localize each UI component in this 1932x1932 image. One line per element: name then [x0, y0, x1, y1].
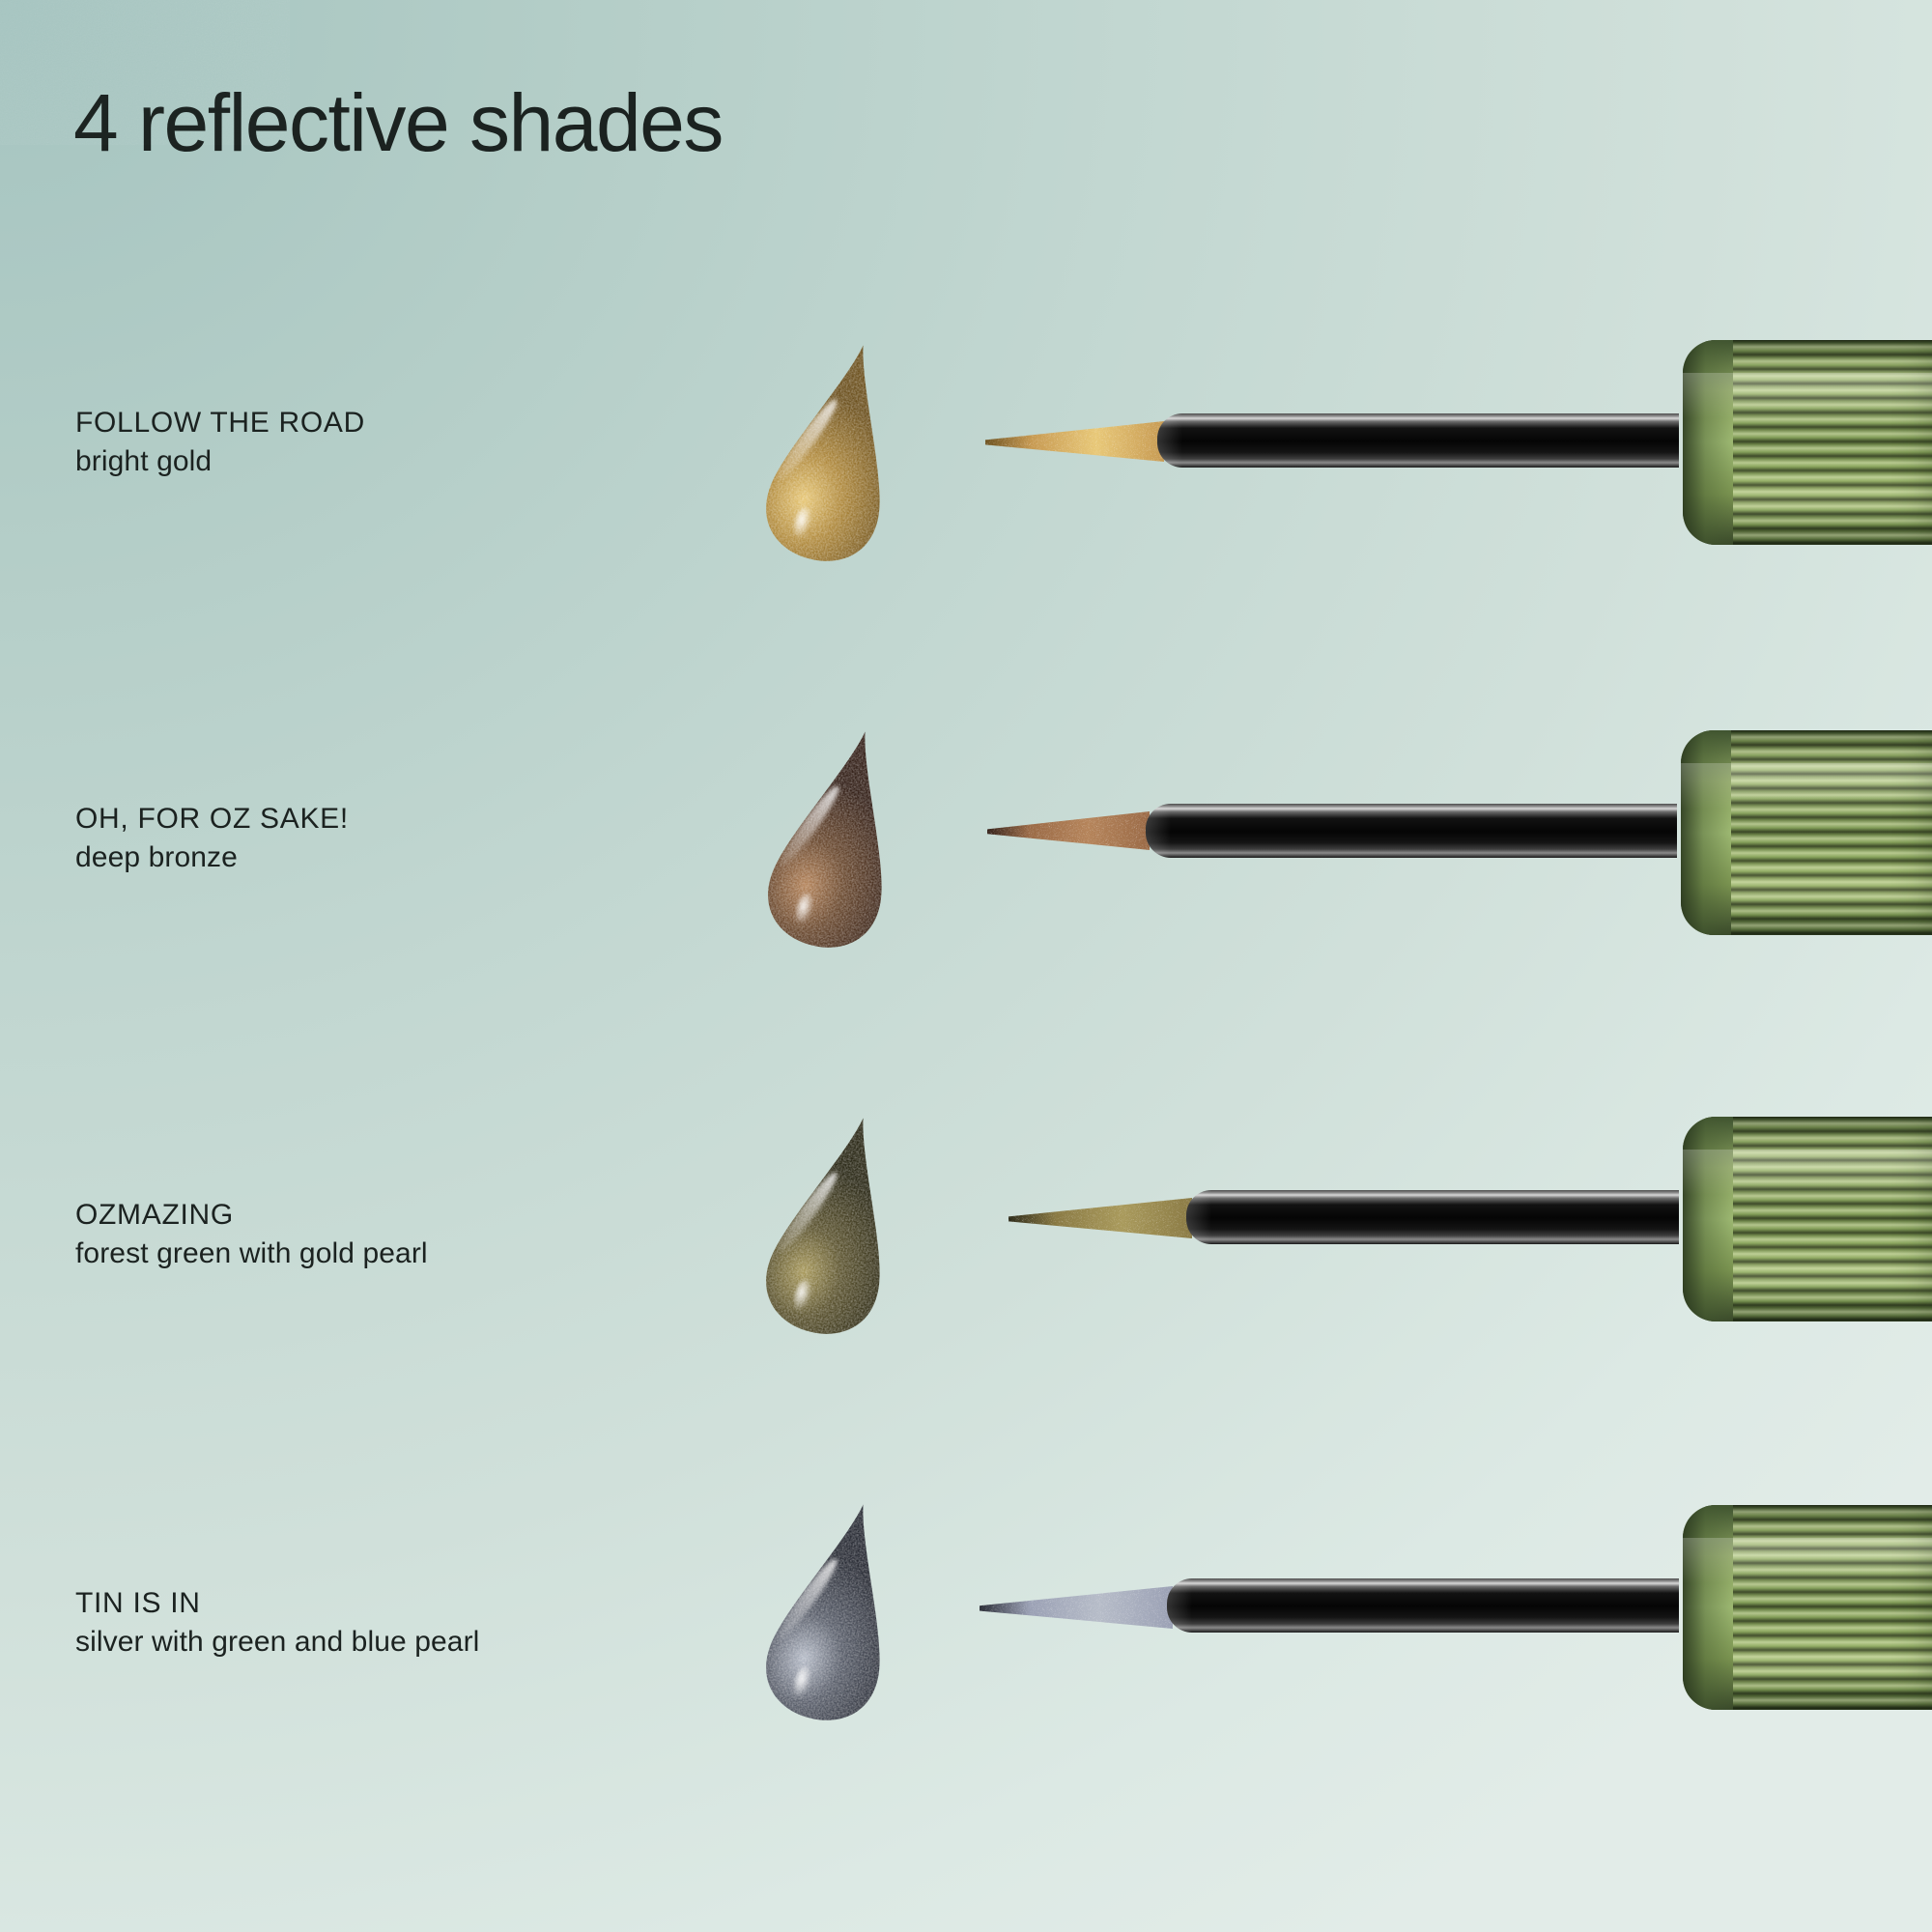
shade-label: OZMAZINGforest green with gold pearl: [75, 1196, 428, 1273]
product-shade-chart: 4 reflective shades FOLLOW THE ROADbrigh…: [0, 0, 1932, 1932]
shade-label: FOLLOW THE ROADbright gold: [75, 404, 365, 481]
product-cap: [1681, 730, 1932, 935]
shade-label: TIN IS INsilver with green and blue pear…: [75, 1584, 479, 1662]
shade-description: deep bronze: [75, 838, 349, 877]
applicator-brush-tip: [985, 421, 1164, 462]
shade-swatch: [748, 1487, 925, 1735]
shade-name: TIN IS IN: [75, 1584, 479, 1623]
shade-swatch: [748, 1100, 925, 1349]
shade-description: bright gold: [75, 442, 365, 481]
applicator-brush-tip: [980, 1586, 1173, 1629]
cap-end: [1683, 340, 1733, 545]
shade-name: OZMAZING: [75, 1196, 428, 1235]
product-cap: [1683, 1505, 1932, 1710]
shade-label: OH, FOR OZ SAKE!deep bronze: [75, 800, 349, 877]
shade-name: FOLLOW THE ROAD: [75, 404, 365, 442]
shade-name: OH, FOR OZ SAKE!: [75, 800, 349, 838]
applicator-handle: [1157, 413, 1679, 468]
shade-description: silver with green and blue pearl: [75, 1623, 479, 1662]
shade-description: forest green with gold pearl: [75, 1235, 428, 1273]
applicator-brush-tip: [987, 811, 1150, 850]
applicator-handle: [1167, 1578, 1679, 1633]
product-cap: [1683, 1117, 1932, 1321]
page-title: 4 reflective shades: [73, 76, 723, 170]
applicator-handle: [1186, 1190, 1679, 1244]
applicator-brush-tip: [1009, 1198, 1192, 1238]
product-cap: [1683, 340, 1932, 545]
cap-end: [1683, 1505, 1733, 1710]
shade-swatch: [748, 327, 925, 576]
applicator-handle: [1146, 804, 1677, 858]
cap-end: [1681, 730, 1731, 935]
shade-swatch: [750, 714, 927, 962]
cap-end: [1683, 1117, 1733, 1321]
